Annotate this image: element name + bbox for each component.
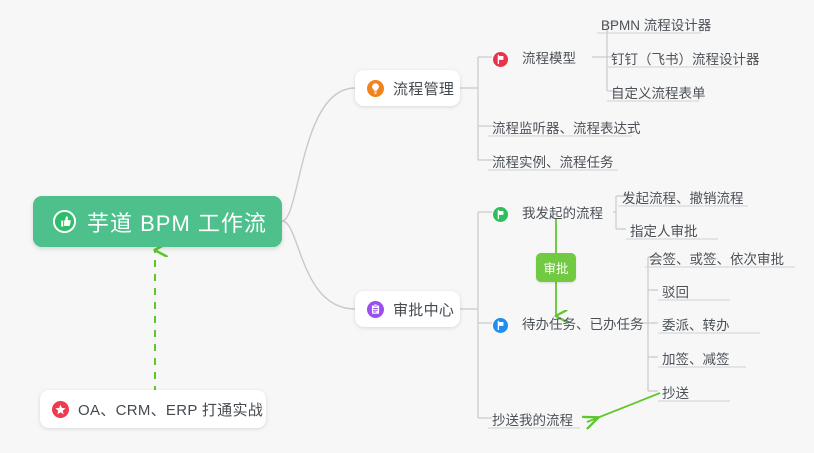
node-label: 待办任务、已办任务 (518, 313, 648, 337)
root-label: 芋道 BPM 工作流 (87, 206, 267, 238)
node-todo-done-tasks[interactable]: 待办任务、已办任务 (492, 313, 648, 337)
branch-node-approval-center[interactable]: 审批中心 (355, 291, 460, 327)
branch-label: 流程管理 (393, 78, 454, 99)
leaf-delegate-transfer[interactable]: 委派、转办 (658, 314, 734, 338)
leaf-custom-form[interactable]: 自定义流程表单 (607, 82, 710, 106)
thumbs-up-icon (53, 210, 76, 233)
node-label: 我发起的流程 (518, 202, 607, 226)
root-node[interactable]: 芋道 BPM 工作流 (33, 196, 282, 247)
bottom-note-node[interactable]: OA、CRM、ERP 打通实战 (40, 390, 266, 428)
leaf-reject[interactable]: 驳回 (658, 281, 693, 305)
leaf-start-cancel-process[interactable]: 发起流程、撤销流程 (618, 187, 748, 211)
leaf-cc[interactable]: 抄送 (658, 382, 693, 406)
branch-label: 审批中心 (393, 299, 454, 320)
node-label: 流程模型 (518, 47, 580, 71)
star-icon (52, 401, 69, 418)
annotation-badge-label: 审批 (543, 258, 568, 277)
clipboard-icon (367, 301, 384, 318)
flag-icon (492, 317, 509, 334)
annotation-badge-approval: 审批 (536, 253, 576, 282)
leaf-process-listener[interactable]: 流程监听器、流程表达式 (488, 117, 645, 141)
leaf-assignee-approval[interactable]: 指定人审批 (626, 220, 702, 244)
leaf-bpmn-designer[interactable]: BPMN 流程设计器 (597, 14, 715, 38)
flag-icon (492, 206, 509, 223)
node-my-started-processes[interactable]: 我发起的流程 (492, 202, 607, 226)
leaf-countersign[interactable]: 会签、或签、依次审批 (645, 248, 788, 272)
lightbulb-pin-icon (367, 80, 384, 97)
leaf-add-remove-sign[interactable]: 加签、减签 (658, 348, 734, 372)
leaf-process-instance[interactable]: 流程实例、流程任务 (488, 151, 618, 175)
leaf-dingtalk-designer[interactable]: 钉钉（飞书）流程设计器 (607, 48, 764, 72)
leaf-cc-to-me[interactable]: 抄送我的流程 (488, 409, 577, 433)
bottom-note-label: OA、CRM、ERP 打通实战 (78, 399, 263, 420)
node-process-model[interactable]: 流程模型 (492, 47, 580, 71)
branch-node-process-management[interactable]: 流程管理 (355, 70, 460, 106)
flag-icon (492, 51, 509, 68)
mindmap-canvas: 芋道 BPM 工作流 OA、CRM、ERP 打通实战 流程管理 (0, 0, 814, 453)
